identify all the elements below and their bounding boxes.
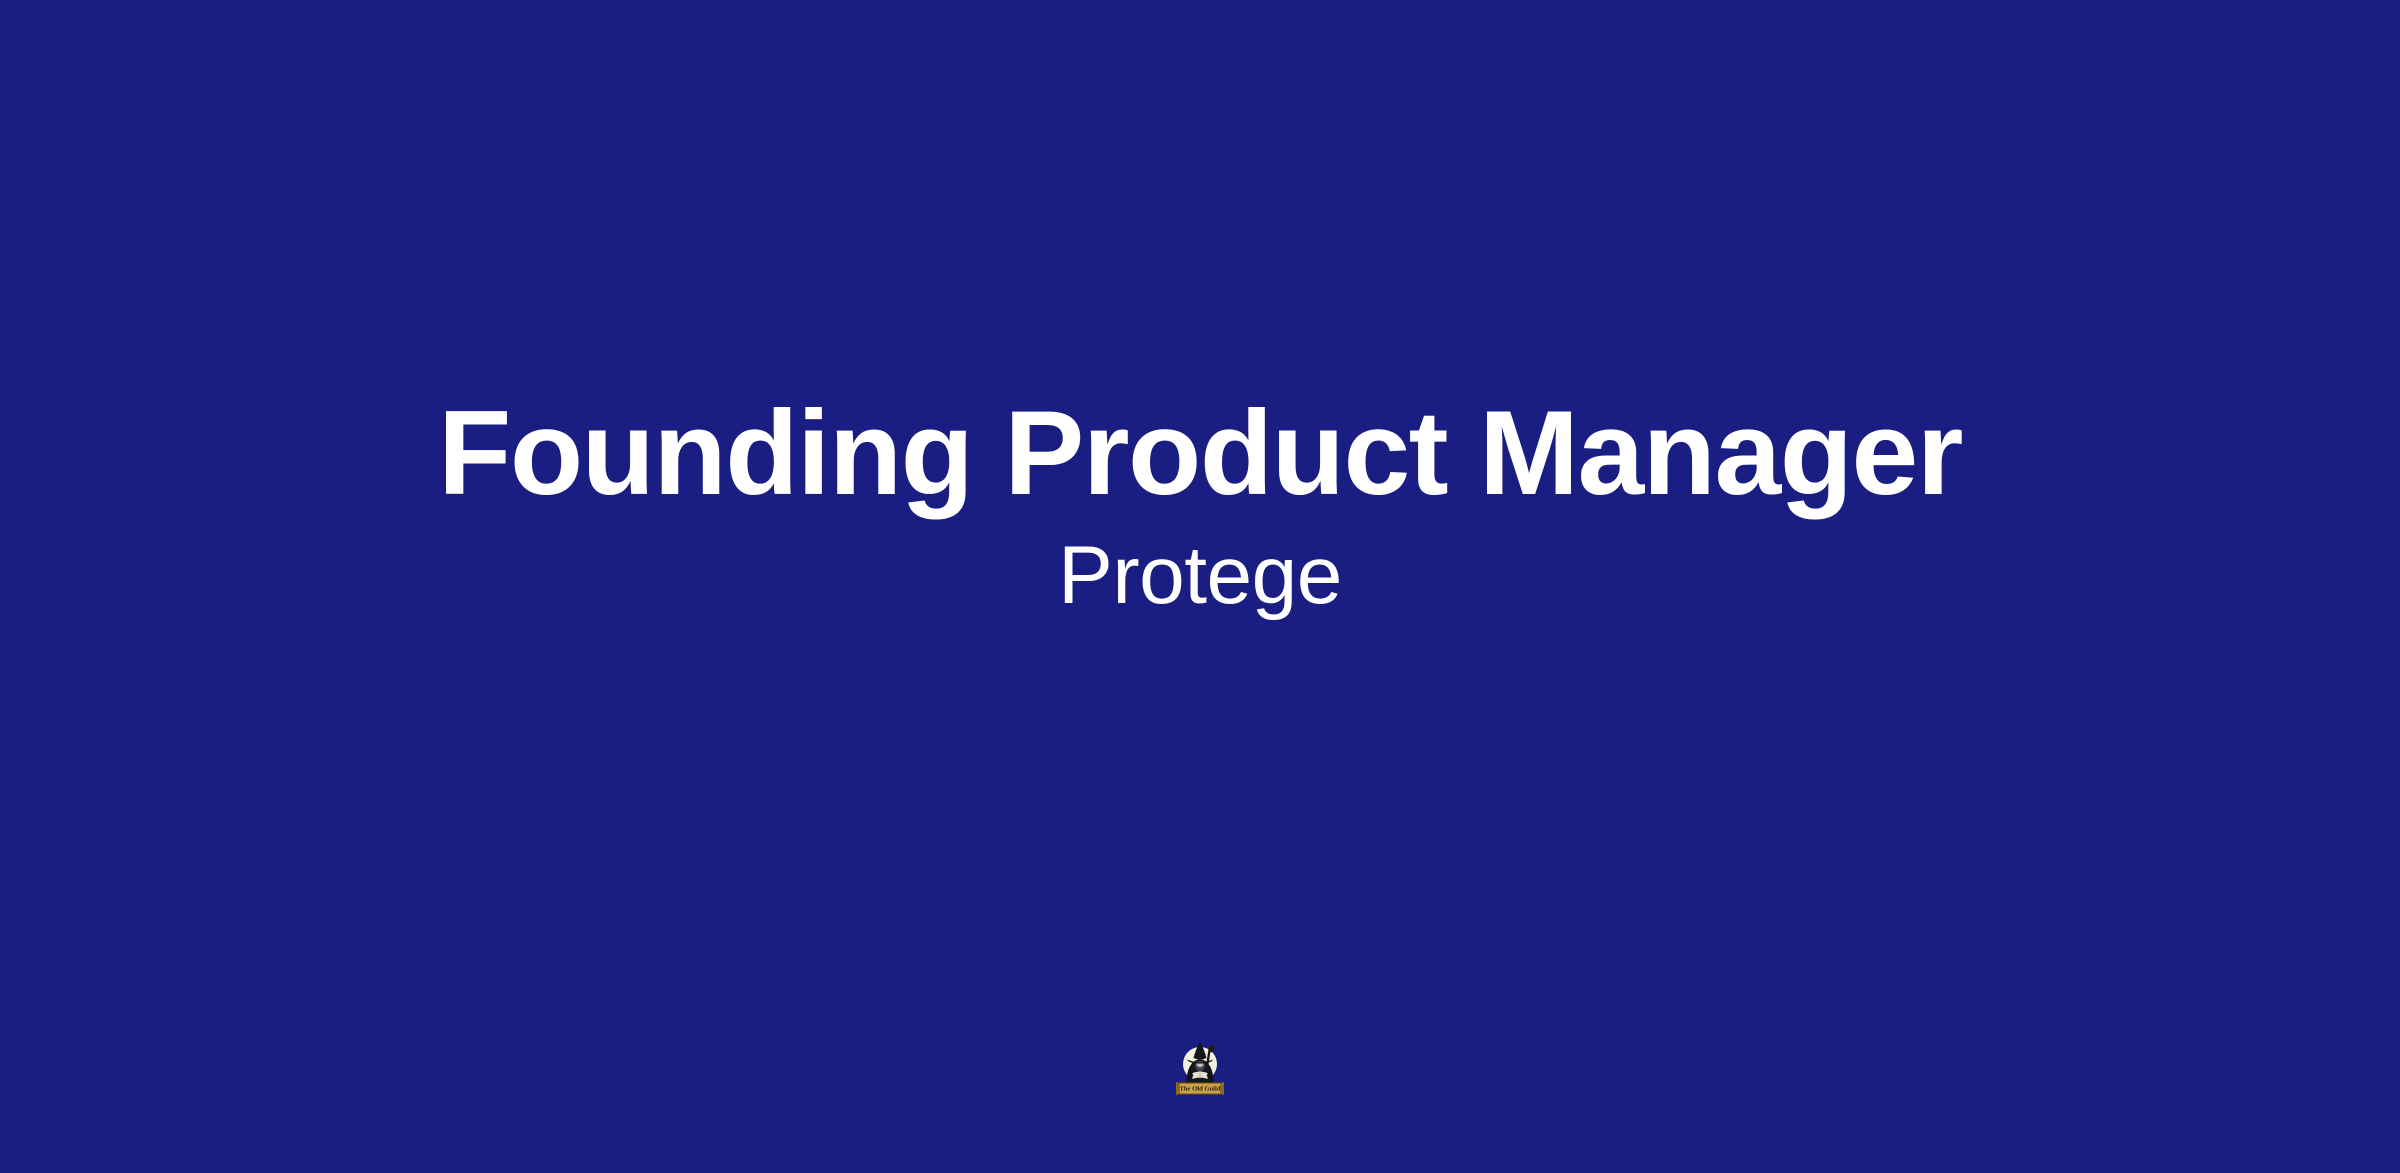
logo-banner: The Old Guild: [1176, 1082, 1224, 1095]
brand-logo: The Old Guild: [1174, 1038, 1226, 1098]
page-title: Founding Product Manager: [438, 393, 1962, 513]
presentation-slide: Founding Product Manager Protege: [0, 0, 2400, 1173]
wizard-guild-logo-icon: The Old Guild: [1174, 1038, 1226, 1098]
logo-banner-text: The Old Guild: [1179, 1086, 1220, 1093]
slide-hero-text-block: Founding Product Manager Protege: [0, 0, 2400, 1173]
page-subtitle: Protege: [1058, 535, 1342, 617]
